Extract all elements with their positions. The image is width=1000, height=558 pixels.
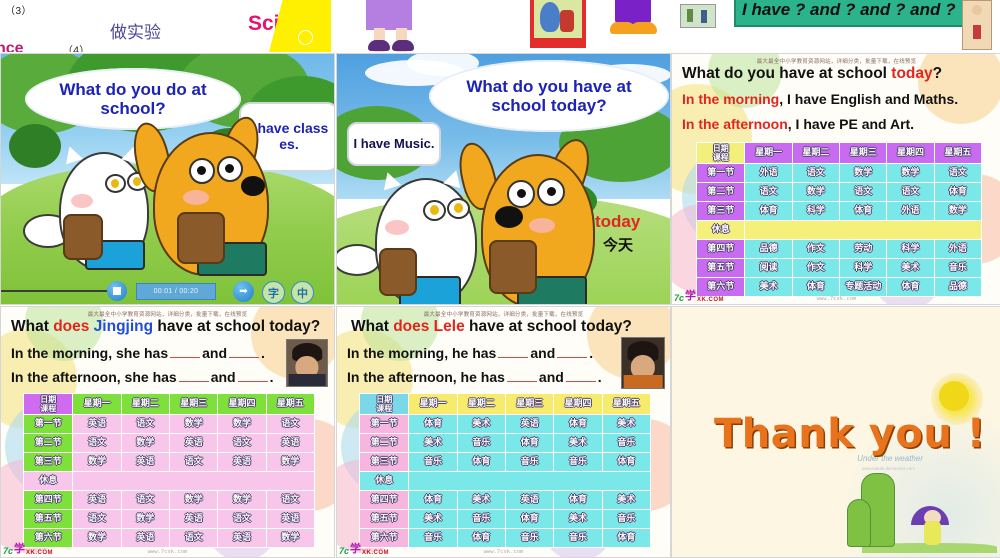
timetable-5: 日期课程星期一星期二星期三星期四星期五第一节体育美术英语体育美术第二节美术音乐体… — [359, 393, 651, 548]
table-cell: 作文 — [792, 259, 839, 278]
q5-part-1: What — [351, 318, 393, 335]
s5-l2-prefix: In the afternoon, he has — [347, 369, 505, 385]
table-column-header-3: 星期三 — [840, 143, 887, 164]
table-cell: 音乐 — [506, 453, 554, 472]
next-arrow-icon[interactable]: ➡ — [233, 281, 254, 302]
cat-eye-left — [105, 174, 126, 193]
table-row: 第四节英语语文数学数学语文 — [24, 491, 315, 510]
table-cell: 数学 — [121, 434, 169, 453]
table-cell: 语文 — [170, 453, 218, 472]
strip-a-cut-paren: （4） — [62, 42, 90, 52]
table-cell: 科学 — [792, 202, 839, 221]
table-cell: 体育 — [506, 510, 554, 529]
table-cell: 美术 — [409, 434, 457, 453]
cat-eye-right — [447, 198, 470, 219]
table-row: 第二节语文数学语文语文体育 — [697, 183, 982, 202]
cartoon-scene-2: What do you have at school today? I have… — [337, 54, 670, 304]
url-watermark: www.7cxk.com — [148, 549, 188, 555]
answer-blank[interactable] — [507, 381, 537, 382]
video-control-bar[interactable]: 00:01 / 00:20 ➡ 字 中 — [1, 280, 334, 302]
table-cell: 体育 — [887, 278, 934, 297]
table-row-label: 第一节 — [697, 164, 745, 183]
table-cell: 劳动 — [840, 240, 887, 259]
table-cell: 体育 — [934, 183, 981, 202]
closing-slide: Under the weather www.kakak.deviantart.c… — [672, 307, 1000, 557]
speech-bubble-question: What do you have at school today? — [429, 60, 669, 132]
language-zhong-button[interactable]: 中 — [291, 281, 314, 304]
sneaker-right — [631, 22, 657, 34]
table-cell: 数学 — [266, 529, 314, 548]
slide-2[interactable]: What do you have at school today? I have… — [336, 53, 671, 305]
table-cell: 英语 — [506, 415, 554, 434]
logo-domain: XK.COM — [26, 550, 53, 556]
answer-blank[interactable] — [566, 381, 596, 382]
table-row: 第一节体育美术英语体育美术 — [360, 415, 651, 434]
dog-backpack — [177, 212, 225, 264]
dog-eye-right — [217, 156, 243, 182]
cat-blush — [385, 220, 409, 235]
cactus-small — [847, 499, 871, 547]
table-cell: 语文 — [266, 491, 314, 510]
q5-part-4: have at school today? — [465, 318, 632, 335]
table-cell: 音乐 — [934, 259, 981, 278]
dog-eye-right — [537, 178, 565, 206]
student-photo-jingjing — [286, 339, 328, 387]
cartoon-scene-1: What do you do at school? I have classes… — [1, 54, 334, 304]
timetable-3: 日期课程星期一星期二星期三星期四星期五第一节外语语文数学数学语文第二节语文数学语… — [696, 142, 982, 297]
strip-a-cut-bottom: nce — [0, 40, 24, 52]
table-header-row: 日期课程星期一星期二星期三星期四星期五 — [697, 143, 982, 164]
q3-part-1: What do you have at school — [682, 65, 891, 82]
cat-eye-left — [423, 200, 446, 221]
table-row-label: 第四节 — [697, 240, 745, 259]
table-cell: 体育 — [457, 529, 505, 548]
table-cell: 音乐 — [409, 529, 457, 548]
lesson-slide-3: 最大最全中小学教育资源网站，详细分类，批量下载，在线预览 What do you… — [672, 54, 1000, 304]
table-column-header-5: 星期五 — [602, 394, 650, 415]
dog-blush — [183, 190, 209, 205]
video-progress-track[interactable] — [1, 290, 109, 292]
table-cell: 语文 — [73, 434, 121, 453]
book-illustration-child — [560, 10, 574, 32]
table-row: 第五节语文数学英语语文英语 — [24, 510, 315, 529]
table-row: 第五节阅读作文科学美术音乐 — [697, 259, 982, 278]
table-cell: 美术 — [409, 510, 457, 529]
strip-a-number: （3） — [5, 2, 32, 17]
table-cell: 品德 — [745, 240, 792, 259]
table-cell: 英语 — [218, 529, 266, 548]
emblem-icon — [298, 30, 313, 45]
table-column-header-3: 星期三 — [170, 394, 218, 415]
slide-preview-page: （3） 做实验 Sci nce （4） I have ? and — [0, 0, 1000, 556]
table-cell: 美术 — [457, 491, 505, 510]
s4-l1-prefix: In the morning, she has — [11, 345, 168, 361]
table-column-header-5: 星期五 — [266, 394, 314, 415]
strip-slide-a[interactable]: （3） 做实验 Sci nce （4） — [0, 0, 334, 52]
table-rest-cell — [745, 221, 982, 240]
table-cell: 语文 — [887, 183, 934, 202]
s4-l2-prefix: In the afternoon, she has — [11, 369, 177, 385]
table-row-label: 第五节 — [697, 259, 745, 278]
s4-l2-mid: and — [211, 369, 236, 385]
speech-bubble-question-text: What do you have at school today? — [429, 77, 669, 115]
s5-l1-prefix: In the morning, he has — [347, 345, 496, 361]
table-cell: 体育 — [554, 415, 602, 434]
green-sentence-banner: I have ? and ? and ? and ? — [734, 0, 970, 27]
table-corner-cell: 日期课程 — [360, 394, 409, 415]
table-cell: 外语 — [745, 164, 792, 183]
table-cell: 音乐 — [602, 510, 650, 529]
slide-4[interactable]: 最大最全中小学教育资源网站，详细分类，批量下载，在线预览 What does J… — [0, 306, 335, 558]
table-column-header-3: 星期三 — [506, 394, 554, 415]
table-cell: 音乐 — [554, 453, 602, 472]
table-cell: 数学 — [266, 453, 314, 472]
table-cell: 音乐 — [506, 529, 554, 548]
script-caption-url: www.kakak.deviantart.com — [862, 466, 915, 471]
table-row-label: 休息 — [697, 221, 745, 240]
s4-l2-end: . — [270, 369, 274, 385]
logo-7c: 7c — [339, 546, 349, 556]
table-cell: 英语 — [121, 529, 169, 548]
slide-3-line-2: In the afternoon, I have PE and Art. — [682, 116, 914, 132]
book-illustration-figure — [540, 2, 560, 32]
table-row-label: 第三节 — [697, 202, 745, 221]
table-cell: 美术 — [602, 491, 650, 510]
table-row: 第六节音乐体育音乐音乐体育 — [360, 529, 651, 548]
table-cell: 英语 — [170, 510, 218, 529]
table-cell: 英语 — [170, 434, 218, 453]
table-cell: 体育 — [792, 278, 839, 297]
bush-left — [9, 124, 61, 168]
student-photo-lele — [621, 337, 665, 389]
table-cell: 语文 — [840, 183, 887, 202]
cat-backpack — [63, 214, 103, 260]
table-cell: 数学 — [73, 529, 121, 548]
pupil-pants — [615, 0, 651, 24]
table-cell: 语文 — [218, 434, 266, 453]
table-cell: 数学 — [170, 491, 218, 510]
vocab-word-english: today — [595, 212, 640, 232]
slide-6[interactable]: Under the weather www.kakak.deviantart.c… — [671, 306, 1000, 558]
subtitle-zi-button[interactable]: 字 — [262, 281, 285, 304]
logo-domain: XK.COM — [697, 297, 724, 303]
line2-highlight: In the afternoon — [682, 116, 788, 132]
q4-part-2: does — [53, 318, 93, 335]
table-row: 休息 — [24, 472, 315, 491]
table-cell: 科学 — [840, 259, 887, 278]
table-row: 第四节体育美术英语体育美术 — [360, 491, 651, 510]
teacher-skirt — [366, 0, 412, 30]
video-time-display: 00:01 / 00:20 — [136, 283, 216, 300]
table-rest-cell — [409, 472, 651, 491]
thumbnail-photo-right — [962, 0, 992, 50]
table-row-label: 第五节 — [360, 510, 409, 529]
table-cell: 音乐 — [409, 453, 457, 472]
table-row: 第四节品德作文劳动科学外语 — [697, 240, 982, 259]
table-column-header-1: 星期一 — [745, 143, 792, 164]
table-cell: 数学 — [792, 183, 839, 202]
table-row: 第六节数学英语语文英语数学 — [24, 529, 315, 548]
thumbnail-photo-left — [680, 4, 716, 28]
table-cell: 作文 — [792, 240, 839, 259]
site-watermark: 最大最全中小学教育资源网站，详细分类，批量下载，在线预览 — [757, 57, 917, 65]
table-cell: 体育 — [409, 415, 457, 434]
table-cell: 科学 — [887, 240, 934, 259]
slide-5-question: What does Lele have at school today? — [351, 318, 664, 336]
table-row-label: 第二节 — [24, 434, 73, 453]
table-cell: 数学 — [218, 491, 266, 510]
table-cell: 数学 — [934, 202, 981, 221]
table-corner-cell: 日期课程 — [697, 143, 745, 164]
logo-7c: 7c — [3, 546, 13, 556]
table-row-label: 第三节 — [360, 453, 409, 472]
answer-blank[interactable] — [498, 357, 528, 358]
logo-7c: 7c — [674, 293, 684, 303]
table-cell: 数学 — [218, 415, 266, 434]
timetable-4: 日期课程星期一星期二星期三星期四星期五第一节英语语文数学数学语文第二节语文数学英… — [23, 393, 315, 548]
slide-4-question: What does Jingjing have at school today? — [11, 318, 328, 336]
cat-backpack — [379, 248, 417, 296]
q3-part-2: today — [891, 65, 932, 82]
shoe-right — [392, 40, 414, 51]
table-cell: 体育 — [554, 491, 602, 510]
slide-3-line-1: In the morning, I have English and Maths… — [682, 91, 958, 107]
table-cell: 体育 — [745, 202, 792, 221]
table-cell: 美术 — [457, 415, 505, 434]
strip-slide-c[interactable]: I have ? and ? and ? and ? — [668, 0, 1000, 52]
brand-logo: 7c 学 XK.COM — [339, 540, 389, 556]
table-row-label: 休息 — [360, 472, 409, 491]
table-cell: 美术 — [887, 259, 934, 278]
table-row-label: 休息 — [24, 472, 73, 491]
q4-part-1: What — [11, 318, 53, 335]
table-header-row: 日期课程星期一星期二星期三星期四星期五 — [24, 394, 315, 415]
site-watermark: 最大最全中小学教育资源网站，详细分类，批量下载，在线预览 — [88, 310, 248, 318]
speech-bubble-answer-text: I have Music. — [354, 137, 435, 152]
table-cell: 体育 — [409, 491, 457, 510]
slide-5-line-2: In the afternoon, he hasand. — [347, 369, 602, 385]
speech-bubble-question-text: What do you do at school? — [25, 80, 241, 118]
table-cell: 语文 — [73, 510, 121, 529]
table-cell: 英语 — [266, 434, 314, 453]
banner-text: I have ? and ? and ? and ? — [736, 0, 968, 22]
s5-l2-end: . — [598, 369, 602, 385]
s5-l1-mid: and — [530, 345, 555, 361]
table-row-label: 第二节 — [697, 183, 745, 202]
table-column-header-2: 星期二 — [792, 143, 839, 164]
table-column-header-1: 星期一 — [409, 394, 457, 415]
table-row: 第一节英语语文数学数学语文 — [24, 415, 315, 434]
slide-4-line-1: In the morning, she hasand. — [11, 345, 265, 361]
logo-xue: 学 — [14, 540, 25, 556]
brand-logo: 7c 学 XK.COM — [674, 287, 724, 303]
q4-part-3: Jingjing — [94, 318, 153, 335]
table-row: 第六节美术体育专题活动体育品德 — [697, 278, 982, 297]
strip-slide-b[interactable] — [334, 0, 668, 52]
table-cell: 外语 — [934, 240, 981, 259]
logo-domain: XK.COM — [362, 550, 389, 556]
table-cell: 语文 — [266, 415, 314, 434]
table-cell: 专题活动 — [840, 278, 887, 297]
table-row: 第一节外语语文数学数学语文 — [697, 164, 982, 183]
dog-eye-left — [507, 180, 535, 208]
table-column-header-4: 星期四 — [218, 394, 266, 415]
site-watermark: 最大最全中小学教育资源网站，详细分类，批量下载，在线预览 — [424, 310, 584, 318]
table-cell: 语文 — [121, 491, 169, 510]
table-column-header-5: 星期五 — [934, 143, 981, 164]
table-row: 第三节体育科学体育外语数学 — [697, 202, 982, 221]
speech-bubble-answer: I have Music. — [347, 122, 441, 166]
thank-you-text: Thank you ! — [714, 411, 985, 457]
table-row: 第三节音乐体育音乐音乐体育 — [360, 453, 651, 472]
url-watermark: www.7cxk.com — [817, 296, 857, 302]
speech-bubble-question: What do you do at school? — [25, 68, 241, 130]
q5-part-2: does — [393, 318, 433, 335]
lesson-slide-5: 最大最全中小学教育资源网站，详细分类，批量下载，在线预览 What does L… — [337, 307, 670, 557]
answer-blank[interactable] — [238, 381, 268, 382]
cat-blush — [71, 194, 93, 208]
shoe-left — [368, 40, 390, 51]
vocab-word-chinese: 今天 — [603, 234, 633, 255]
table-corner-cell: 日期课程 — [24, 394, 73, 415]
logo-xue: 学 — [685, 287, 696, 303]
s5-l2-mid: and — [539, 369, 564, 385]
table-row-label: 第一节 — [24, 415, 73, 434]
table-cell: 数学 — [887, 164, 934, 183]
table-cell: 英语 — [506, 491, 554, 510]
table-row-label: 第四节 — [360, 491, 409, 510]
table-cell: 美术 — [602, 415, 650, 434]
slide-grid: What do you do at school? I have classes… — [0, 53, 1000, 556]
table-row-label: 第一节 — [360, 415, 409, 434]
slide-5-line-1: In the morning, he hasand. — [347, 345, 593, 361]
table-row-label: 第四节 — [24, 491, 73, 510]
table-cell: 美术 — [745, 278, 792, 297]
table-row: 第二节语文数学英语语文英语 — [24, 434, 315, 453]
answer-blank[interactable] — [170, 357, 200, 358]
child-body — [924, 521, 941, 545]
table-cell: 语文 — [934, 164, 981, 183]
top-slide-strip: （3） 做实验 Sci nce （4） I have ? and — [0, 0, 1000, 52]
table-cell: 体育 — [602, 453, 650, 472]
answer-blank[interactable] — [179, 381, 209, 382]
table-row: 休息 — [360, 472, 651, 491]
table-cell: 英语 — [266, 510, 314, 529]
table-cell: 语文 — [121, 415, 169, 434]
dog-nose — [241, 176, 265, 196]
line2-rest: , I have PE and Art. — [788, 116, 914, 132]
table-row-label: 第五节 — [24, 510, 73, 529]
table-cell: 阅读 — [745, 259, 792, 278]
strip-a-chinese-caption: 做实验 — [110, 18, 161, 43]
dog-eye-left — [189, 158, 215, 184]
slide-1[interactable]: What do you do at school? I have classes… — [0, 53, 335, 305]
table-cell: 音乐 — [457, 510, 505, 529]
yellow-banner-shape — [269, 0, 331, 52]
table-header-row: 日期课程星期一星期二星期三星期四星期五 — [360, 394, 651, 415]
q4-part-4: have at school today? — [153, 318, 320, 335]
s5-l1-end: . — [589, 345, 593, 361]
table-row-label: 第三节 — [24, 453, 73, 472]
table-cell: 英语 — [73, 415, 121, 434]
table-cell: 体育 — [506, 434, 554, 453]
stop-icon[interactable] — [107, 281, 127, 301]
table-cell: 音乐 — [457, 434, 505, 453]
table-row: 第三节数学英语语文英语数学 — [24, 453, 315, 472]
table-cell: 美术 — [554, 510, 602, 529]
dog-backpack — [489, 240, 537, 294]
table-cell: 语文 — [745, 183, 792, 202]
table-column-header-2: 星期二 — [457, 394, 505, 415]
slide-3[interactable]: 最大最全中小学教育资源网站，详细分类，批量下载，在线预览 What do you… — [671, 53, 1000, 305]
table-column-header-1: 星期一 — [73, 394, 121, 415]
table-column-header-4: 星期四 — [554, 394, 602, 415]
table-cell: 英语 — [73, 491, 121, 510]
table-row-label: 第二节 — [360, 434, 409, 453]
table-row: 第五节美术音乐体育美术音乐 — [360, 510, 651, 529]
table-cell: 英语 — [121, 453, 169, 472]
dog-blush — [529, 218, 555, 233]
table-row: 第二节美术音乐体育美术音乐 — [360, 434, 651, 453]
table-cell: 语文 — [170, 529, 218, 548]
table-cell: 数学 — [73, 453, 121, 472]
slide-3-question: What do you have at school today? — [682, 65, 995, 83]
slide-4-line-2: In the afternoon, she hasand. — [11, 369, 273, 385]
table-cell: 数学 — [170, 415, 218, 434]
brand-logo: 7c 学 XK.COM — [3, 540, 53, 556]
q5-part-3: Lele — [434, 318, 465, 335]
line1-highlight: In the morning — [682, 91, 779, 107]
dog-nose — [495, 206, 523, 228]
table-cell: 美术 — [554, 434, 602, 453]
url-watermark: www.7cxk.com — [484, 549, 524, 555]
s4-l1-end: . — [261, 345, 265, 361]
lesson-slide-4: 最大最全中小学教育资源网站，详细分类，批量下载，在线预览 What does J… — [1, 307, 334, 557]
table-cell: 体育 — [840, 202, 887, 221]
table-column-header-2: 星期二 — [121, 394, 169, 415]
s4-l1-mid: and — [202, 345, 227, 361]
line1-rest: , I have English and Maths. — [779, 91, 958, 107]
answer-blank[interactable] — [229, 357, 259, 358]
table-cell: 体育 — [457, 453, 505, 472]
table-cell: 数学 — [840, 164, 887, 183]
slide-5[interactable]: 最大最全中小学教育资源网站，详细分类，批量下载，在线预览 What does L… — [336, 306, 671, 558]
table-cell: 体育 — [602, 529, 650, 548]
table-cell: 英语 — [218, 453, 266, 472]
logo-xue: 学 — [350, 540, 361, 556]
q3-part-3: ? — [933, 65, 942, 82]
table-cell: 数学 — [121, 510, 169, 529]
table-rest-cell — [73, 472, 315, 491]
table-cell: 外语 — [887, 202, 934, 221]
table-cell: 语文 — [792, 164, 839, 183]
table-cell: 品德 — [934, 278, 981, 297]
table-cell: 音乐 — [554, 529, 602, 548]
table-row: 休息 — [697, 221, 982, 240]
answer-blank[interactable] — [557, 357, 587, 358]
table-cell: 语文 — [218, 510, 266, 529]
table-cell: 音乐 — [602, 434, 650, 453]
table-column-header-4: 星期四 — [887, 143, 934, 164]
